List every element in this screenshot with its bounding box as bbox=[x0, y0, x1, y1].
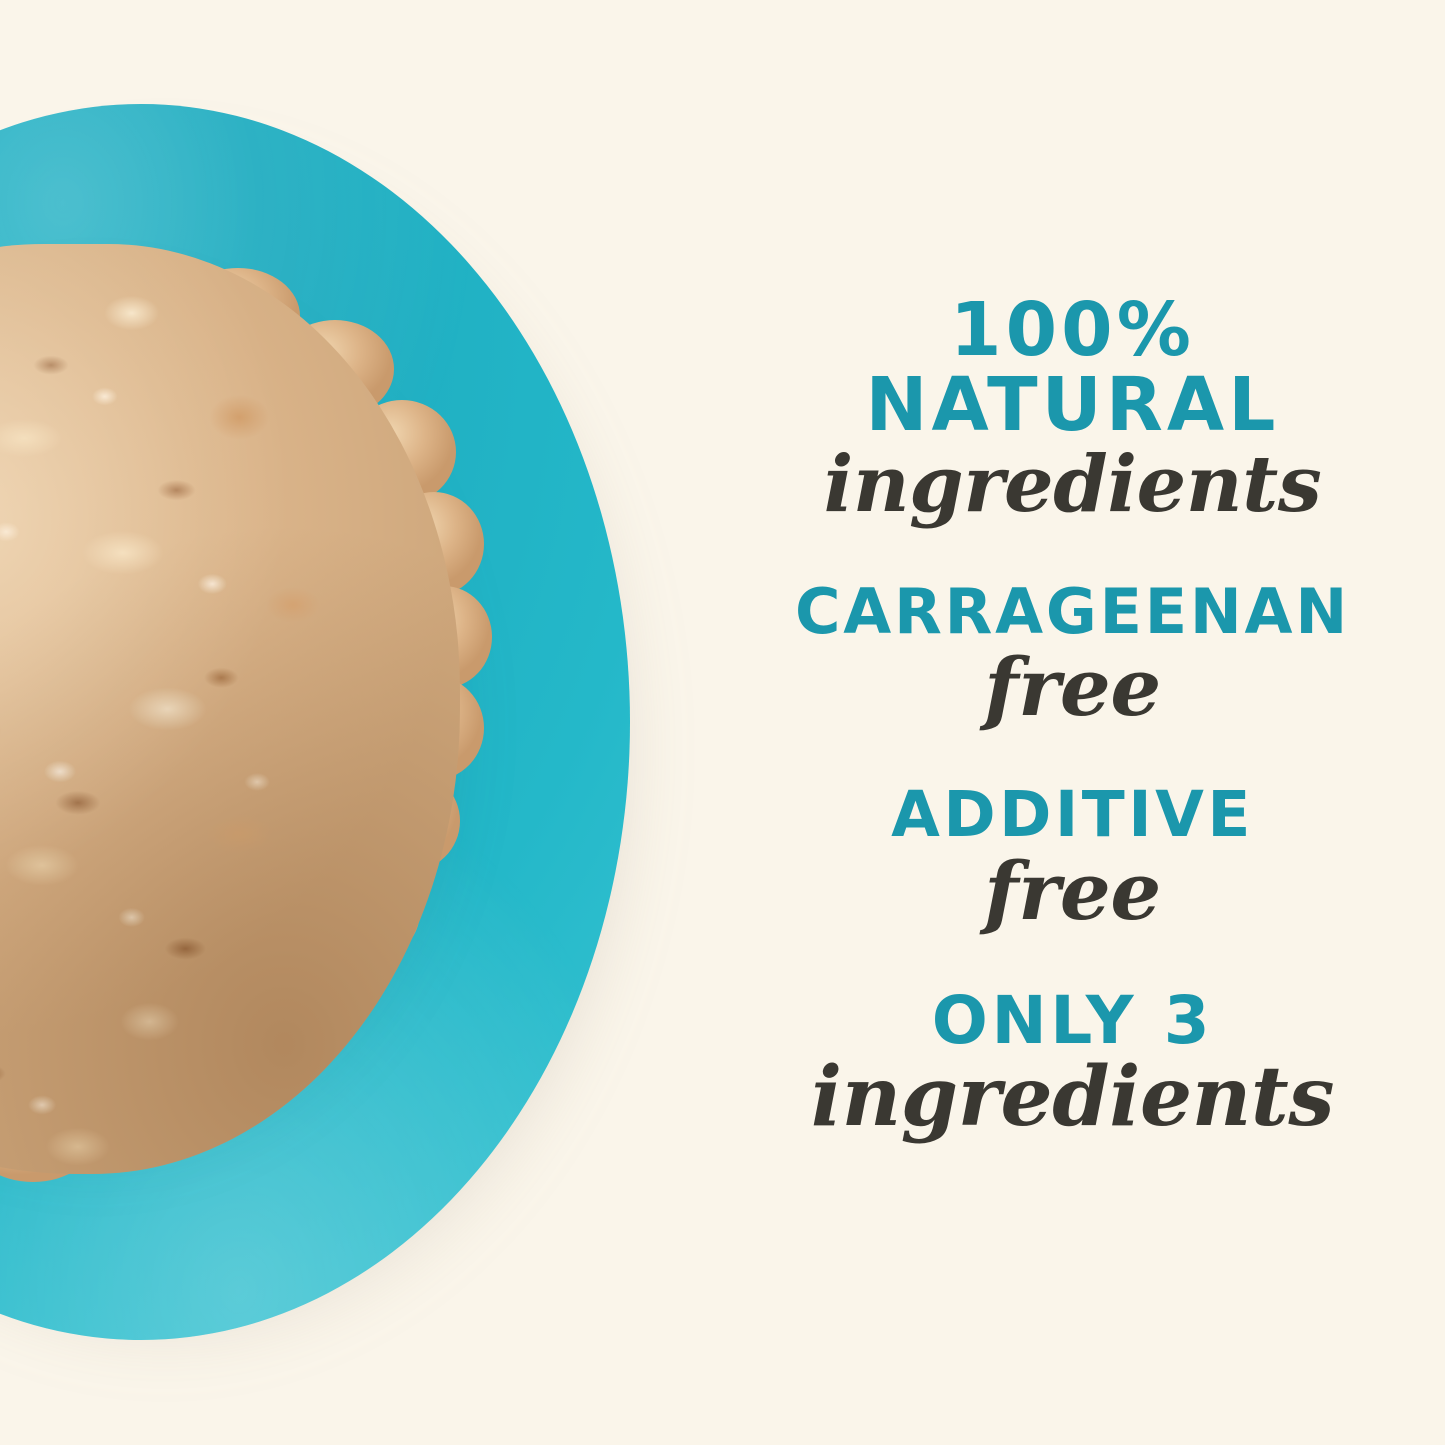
claim-natural: 100% NATURAL ingredients bbox=[700, 293, 1445, 524]
claim-natural-headline-line2: NATURAL bbox=[700, 368, 1445, 443]
claim-carrageenan-script: free bbox=[700, 647, 1445, 727]
claim-additive-headline: ADDITIVE bbox=[700, 783, 1445, 847]
claim-carrageenan: CARRAGEENAN free bbox=[700, 580, 1445, 727]
claim-only3-script: ingredients bbox=[700, 1056, 1445, 1138]
claim-only3-headline: ONLY 3 bbox=[700, 987, 1445, 1054]
claim-additive: ADDITIVE free bbox=[700, 783, 1445, 931]
claim-carrageenan-headline: CARRAGEENAN bbox=[700, 580, 1445, 643]
food-lighting-overlay bbox=[0, 244, 460, 1174]
product-claims-graphic: 100% NATURAL ingredients CARRAGEENAN fre… bbox=[0, 0, 1445, 1445]
claims-list: 100% NATURAL ingredients CARRAGEENAN fre… bbox=[700, 0, 1445, 1445]
claim-additive-script: free bbox=[700, 851, 1445, 931]
shredded-fish-food-mound bbox=[0, 244, 460, 1174]
product-photo bbox=[0, 0, 700, 1445]
claim-natural-headline-line1: 100% bbox=[700, 293, 1445, 368]
claim-natural-script: ingredients bbox=[700, 446, 1445, 524]
claim-natural-headline: 100% NATURAL bbox=[700, 293, 1445, 444]
claim-only3: ONLY 3 ingredients bbox=[700, 987, 1445, 1138]
